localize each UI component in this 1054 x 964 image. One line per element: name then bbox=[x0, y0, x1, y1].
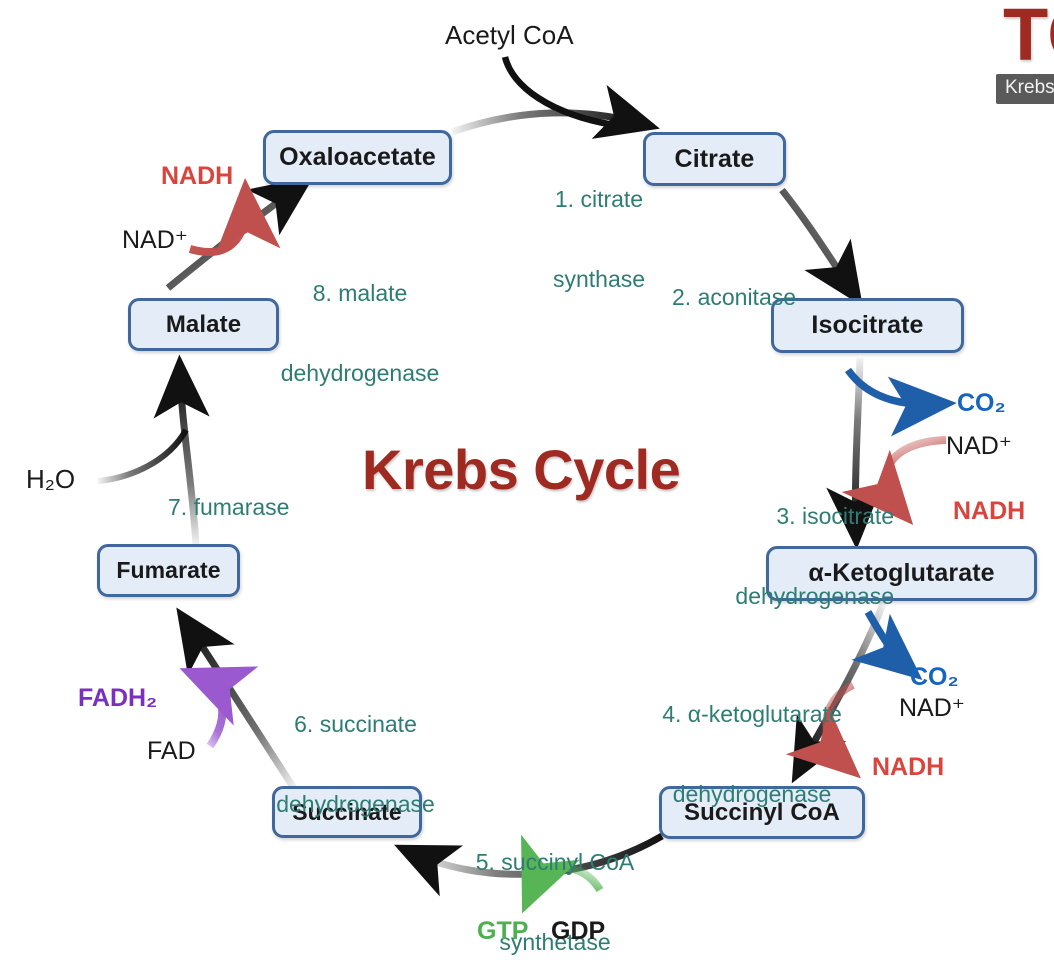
label-gdp: GDP bbox=[551, 917, 605, 946]
label-co2-step4: CO₂ bbox=[910, 663, 959, 692]
enzyme-label-2-aconitase: 2. aconitase bbox=[672, 231, 796, 364]
enzyme-line-1: 1. citrate bbox=[499, 186, 699, 213]
enzyme-line-2: dehydrogenase bbox=[677, 583, 894, 610]
label-fad: FAD bbox=[147, 737, 196, 766]
node-malate[interactable]: Malate bbox=[128, 298, 279, 351]
node-isocitrate[interactable]: Isocitrate bbox=[771, 298, 964, 353]
enzyme-line-1: 5. succinyl CoA bbox=[455, 849, 655, 876]
hover-tooltip-krebs: Krebs bbox=[996, 74, 1054, 104]
enzyme-line-1: 3. isocitrate bbox=[677, 503, 894, 530]
label-co2-step3: CO₂ bbox=[957, 389, 1006, 418]
label-nadh-step4: NADH bbox=[872, 753, 944, 782]
enzyme-line-2: dehydrogenase bbox=[639, 781, 865, 808]
arrow-nad-to-nadh-step3 bbox=[886, 440, 946, 510]
enzyme-line-2: synthase bbox=[499, 266, 699, 293]
label-acetyl-coa: Acetyl CoA bbox=[445, 20, 574, 50]
enzyme-line-2: dehydrogenase bbox=[247, 791, 464, 818]
enzyme-label-7-fumarase: 7. fumarase bbox=[168, 441, 289, 574]
label-nadh-step3: NADH bbox=[953, 497, 1025, 526]
label-nad-plus-step8: NAD⁺ bbox=[122, 226, 188, 255]
node-label: Isocitrate bbox=[811, 311, 923, 340]
krebs-cycle-diagram: Oxaloacetate Citrate Isocitrate α-Ketogl… bbox=[0, 0, 1054, 964]
enzyme-label-6-succinate-dehydrogenase: 6. succinate dehydrogenase bbox=[247, 658, 464, 871]
enzyme-line-1: 2. aconitase bbox=[672, 284, 796, 311]
label-gtp: GTP bbox=[477, 917, 528, 946]
enzyme-label-1-citrate-synthase: 1. citrate synthase bbox=[499, 133, 699, 346]
enzyme-line-1: 8. malate bbox=[262, 280, 458, 307]
arrow-fad-to-fadh2 bbox=[198, 676, 222, 746]
label-nadh-step8: NADH bbox=[161, 162, 233, 191]
node-oxaloacetate[interactable]: Oxaloacetate bbox=[263, 130, 452, 185]
diagram-center-title: Krebs Cycle bbox=[362, 437, 680, 502]
enzyme-line-1: 7. fumarase bbox=[168, 494, 289, 521]
node-label: Oxaloacetate bbox=[279, 143, 436, 172]
enzyme-label-3-isocitrate-dehydrogenase: 3. isocitrate dehydrogenase bbox=[677, 450, 894, 663]
label-nad-plus-step3: NAD⁺ bbox=[946, 432, 1012, 461]
enzyme-line-2: dehydrogenase bbox=[262, 360, 458, 387]
enzyme-line-1: 6. succinate bbox=[247, 711, 464, 738]
enzyme-line-1: 4. α-ketoglutarate bbox=[639, 701, 865, 728]
node-label: Malate bbox=[166, 311, 241, 339]
label-nad-plus-step4: NAD⁺ bbox=[899, 694, 965, 723]
label-water: H₂O bbox=[26, 464, 75, 494]
label-fadh2: FADH₂ bbox=[78, 684, 157, 713]
corner-heading-tca: TC bbox=[1003, 0, 1054, 77]
enzyme-label-4-alpha-ketoglutarate-dehydrogenase: 4. α-ketoglutarate dehydrogenase bbox=[639, 648, 865, 861]
enzyme-label-8-malate-dehydrogenase: 8. malate dehydrogenase bbox=[262, 227, 458, 440]
